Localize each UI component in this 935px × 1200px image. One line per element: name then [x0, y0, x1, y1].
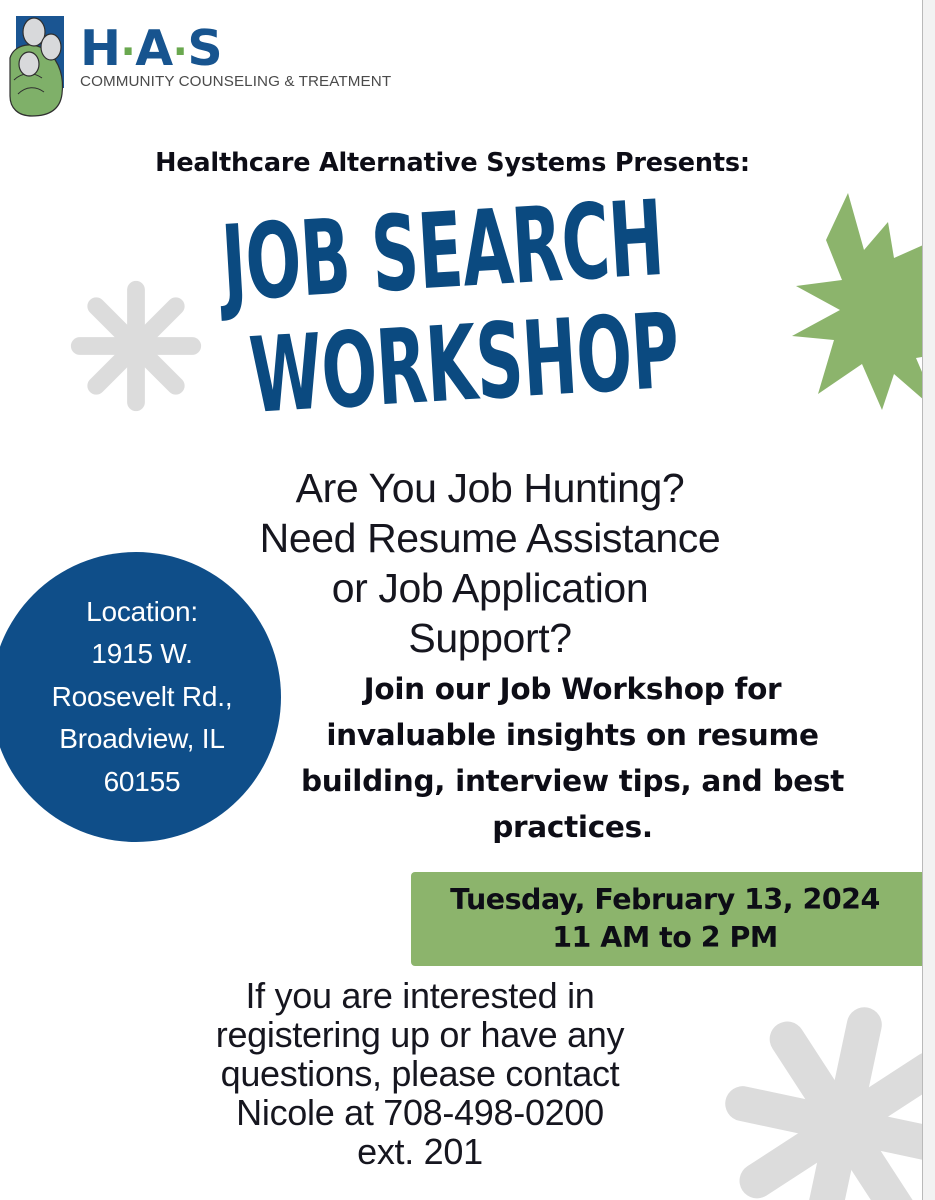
contact-line-2: registering up or have any: [130, 1016, 710, 1055]
title-line-workshop: Workshop: [247, 299, 682, 428]
workshop-description: Join our Job Workshop for invaluable ins…: [280, 666, 865, 850]
flyer-title: Job Search Workshop: [0, 196, 935, 456]
job-search-workshop-flyer: H·A·S COMMUNITY COUNSELING & TREATMENT H…: [0, 0, 935, 1200]
contact-line-4: Nicole at 708-498-0200: [130, 1094, 710, 1133]
contact-line-5: ext. 201: [130, 1133, 710, 1172]
location-text: Location: 1915 W. Roosevelt Rd., Broadvi…: [52, 591, 233, 804]
event-datetime-banner: Tuesday, February 13, 2024 11 AM to 2 PM: [411, 872, 935, 966]
logo-tagline: COMMUNITY COUNSELING & TREATMENT: [80, 73, 391, 90]
logo-letter-s: S: [187, 20, 222, 77]
logo-letter-a: A: [135, 20, 172, 77]
logo-dot-1: ·: [121, 29, 136, 75]
asterisk-gray-bottom-right-icon: [718, 1000, 935, 1200]
headline-line-1: Are You Job Hunting?: [150, 463, 830, 513]
event-date: Tuesday, February 13, 2024: [450, 881, 880, 919]
location-street-number: 1915 W.: [52, 633, 233, 676]
has-family-hand-logo-icon: [8, 14, 72, 118]
contact-line-1: If you are interested in: [130, 977, 710, 1016]
event-time: 11 AM to 2 PM: [552, 919, 778, 957]
location-label: Location:: [52, 591, 233, 634]
has-logo: H·A·S COMMUNITY COUNSELING & TREATMENT: [8, 14, 391, 118]
page-edge-rule: [922, 0, 923, 1200]
headline-line-2: Need Resume Assistance: [150, 513, 830, 563]
headline-line-3: or Job Application: [150, 563, 830, 613]
location-city-state: Broadview, IL: [52, 718, 233, 761]
contact-info: If you are interested in registering up …: [130, 977, 710, 1171]
location-zip: 60155: [52, 761, 233, 804]
contact-line-3: questions, please contact: [130, 1055, 710, 1094]
logo-acronym: H·A·S: [80, 26, 391, 71]
page-margin-outside: [923, 0, 935, 1200]
location-badge: Location: 1915 W. Roosevelt Rd., Broadvi…: [0, 552, 281, 842]
logo-dot-2: ·: [173, 29, 188, 75]
logo-letter-h: H: [80, 20, 121, 77]
location-street-name: Roosevelt Rd.,: [52, 676, 233, 719]
presents-line: Healthcare Alternative Systems Presents:: [0, 148, 935, 178]
